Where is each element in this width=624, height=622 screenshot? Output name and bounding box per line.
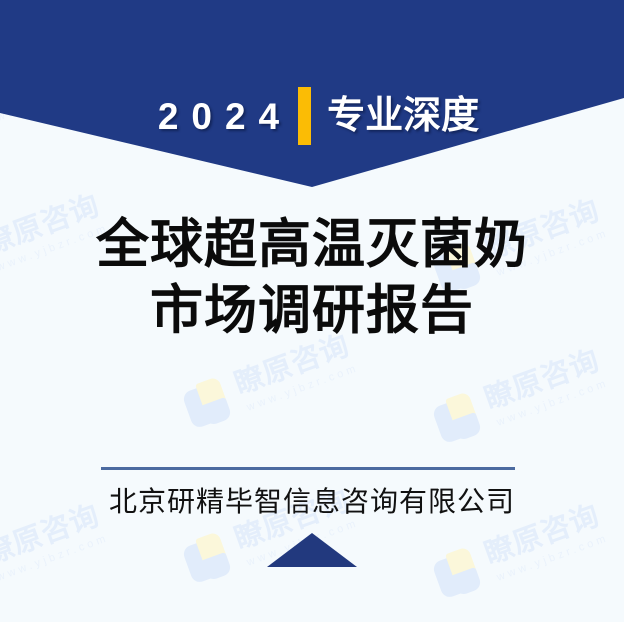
watermark-url: www.yjbzr.com (0, 532, 110, 583)
watermark-url: www.yjbzr.com (495, 532, 610, 583)
report-cover-page: 瞭原咨询 www.yjbzr.com 瞭原咨询 www.yjbzr.com 瞭原… (0, 0, 624, 622)
header-content: 2024 专业深度 (0, 88, 624, 144)
watermark-url: www.yjbzr.com (495, 377, 610, 428)
logo-mark-icon (430, 389, 489, 448)
logo-mark-icon (180, 374, 239, 433)
page-title: 全球超高温灭菌奶 市场调研报告 (0, 212, 624, 343)
accent-bar (298, 87, 311, 145)
page-title-line-1: 全球超高温灭菌奶 (0, 212, 624, 278)
report-year: 2024 (145, 98, 292, 135)
logo-mark-icon (430, 544, 489, 603)
watermark-tile: 瞭原咨询 www.yjbzr.com (430, 345, 610, 448)
watermark-tile: 瞭原咨询 www.yjbzr.com (180, 330, 360, 433)
page-title-line-2: 市场调研报告 (0, 278, 624, 344)
header-tagline: 专业深度 (327, 97, 479, 135)
watermark-text: 瞭原咨询 (481, 346, 605, 415)
title-divider-rule (101, 467, 515, 470)
bottom-triangle-ornament (267, 533, 357, 567)
watermark-url: www.yjbzr.com (245, 362, 360, 413)
logo-mark-icon (180, 529, 239, 588)
company-name: 北京研精毕智信息咨询有限公司 (0, 480, 624, 520)
